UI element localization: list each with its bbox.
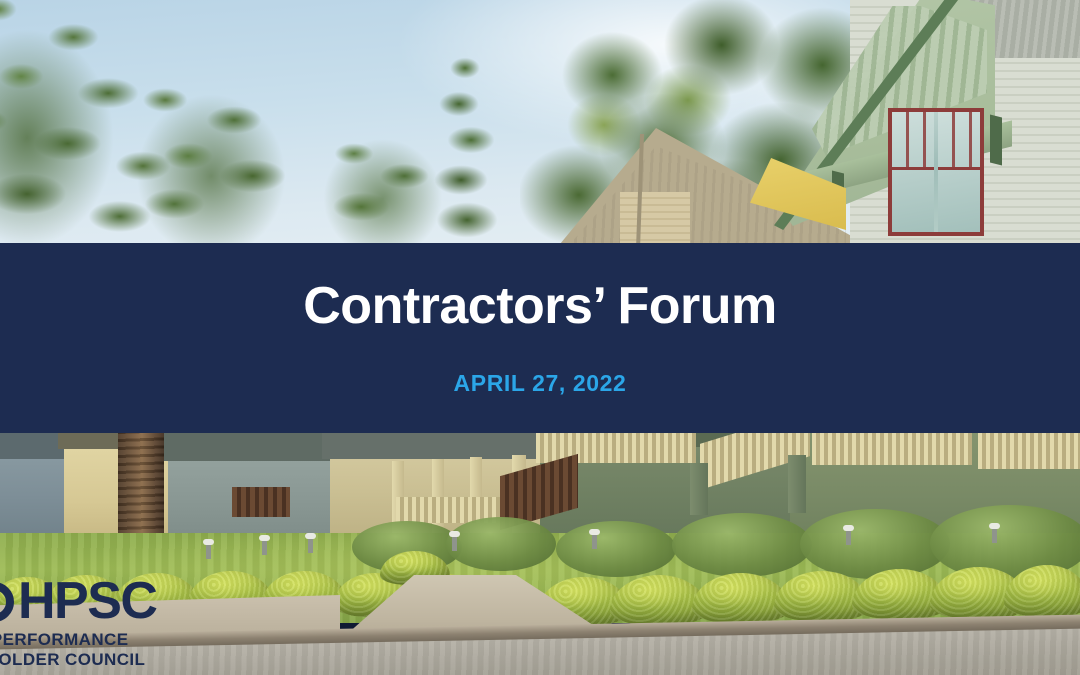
eave-bracket xyxy=(990,115,1002,166)
title-banner: Contractors’ Forum APRIL 27, 2022 xyxy=(0,243,1080,433)
stair-newel-post xyxy=(788,455,806,513)
window-pane xyxy=(938,112,980,232)
path-light xyxy=(592,533,597,549)
path-light xyxy=(262,539,267,555)
hedge-ball xyxy=(1004,565,1080,617)
slide-date: APRIL 27, 2022 xyxy=(454,370,627,397)
green-craftsman-house xyxy=(760,0,1080,250)
presentation-slide: Contractors’ Forum APRIL 27, 2022 HPSC E… xyxy=(0,0,1080,675)
window-pane xyxy=(892,112,934,232)
logo-tagline-line-2: EHOLDER COUNCIL xyxy=(0,650,204,671)
slide-title: Contractors’ Forum xyxy=(303,280,777,332)
pine-tree-tall-thin xyxy=(415,52,515,252)
stair-newel-post xyxy=(690,463,708,515)
path-light xyxy=(452,535,457,551)
circle-swoosh-icon xyxy=(0,582,14,622)
path-light xyxy=(846,529,851,545)
path-light xyxy=(206,543,211,559)
path-light xyxy=(308,537,313,553)
logo-top-row: HPSC xyxy=(0,578,204,626)
wooden-porch-railing xyxy=(232,487,290,517)
logo-acronym: HPSC xyxy=(18,578,156,626)
path-light xyxy=(992,527,997,543)
window-glazing xyxy=(892,112,980,232)
hpsc-logo: HPSC E PERFORMANCE EHOLDER COUNCIL xyxy=(0,578,204,671)
house-window xyxy=(888,108,984,236)
logo-tagline-line-1: E PERFORMANCE xyxy=(0,630,204,651)
beige-gable-siding xyxy=(620,192,690,250)
